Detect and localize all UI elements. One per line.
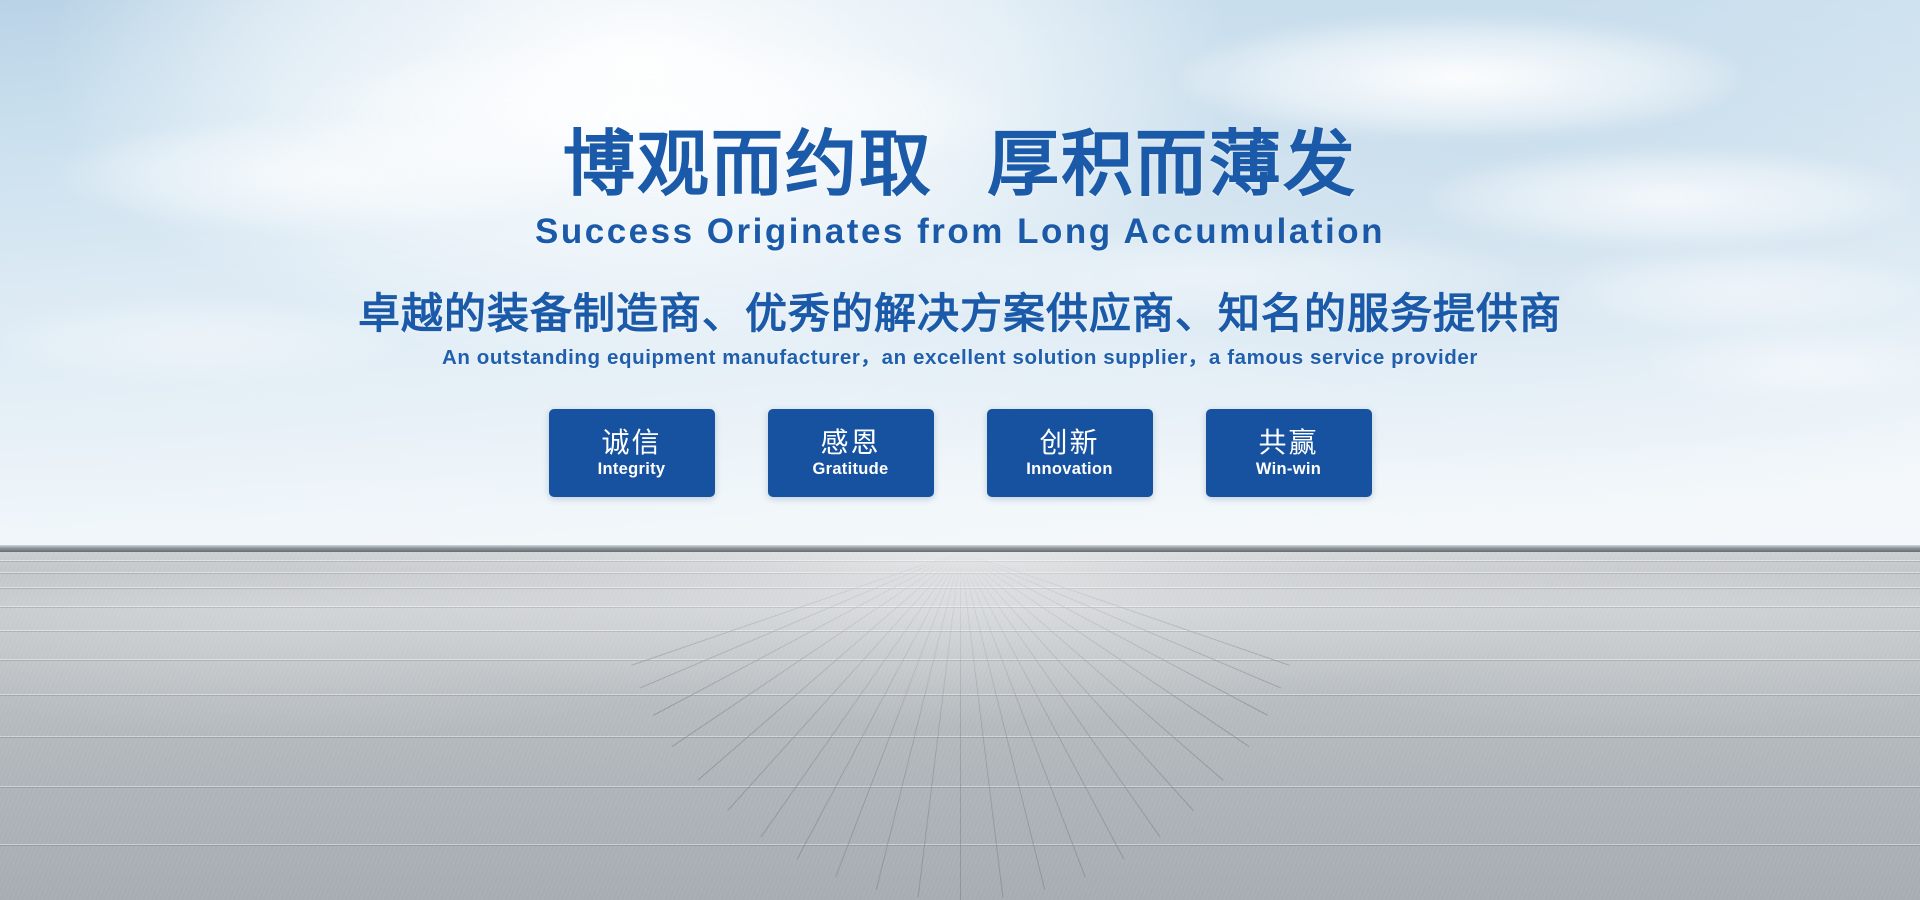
value-card-integrity[interactable]: 诚信 Integrity — [549, 409, 715, 497]
value-card-innovation[interactable]: 创新 Innovation — [987, 409, 1153, 497]
value-label-english: Gratitude — [812, 461, 888, 478]
subtitle-english: An outstanding equipment manufacturer，an… — [442, 348, 1478, 369]
headline-english: Success Originates from Long Accumulatio… — [535, 214, 1385, 249]
value-label-chinese: 感恩 — [820, 428, 880, 457]
value-label-chinese: 创新 — [1039, 428, 1099, 457]
value-label-english: Innovation — [1026, 461, 1112, 478]
value-label-english: Integrity — [598, 461, 666, 478]
banner-content: 博观而约取 厚积而薄发 Success Originates from Long… — [0, 0, 1920, 900]
hero-banner: 博观而约取 厚积而薄发 Success Originates from Long… — [0, 0, 1920, 900]
value-label-english: Win-win — [1256, 461, 1321, 478]
core-values-list: 诚信 Integrity 感恩 Gratitude 创新 Innovation … — [549, 409, 1372, 497]
value-card-gratitude[interactable]: 感恩 Gratitude — [768, 409, 934, 497]
headline-chinese: 博观而约取 厚积而薄发 — [563, 128, 1357, 200]
subtitle-chinese: 卓越的装备制造商、优秀的解决方案供应商、知名的服务提供商 — [358, 293, 1562, 335]
value-card-winwin[interactable]: 共赢 Win-win — [1206, 409, 1372, 497]
value-label-chinese: 共赢 — [1258, 428, 1318, 457]
value-label-chinese: 诚信 — [601, 428, 661, 457]
